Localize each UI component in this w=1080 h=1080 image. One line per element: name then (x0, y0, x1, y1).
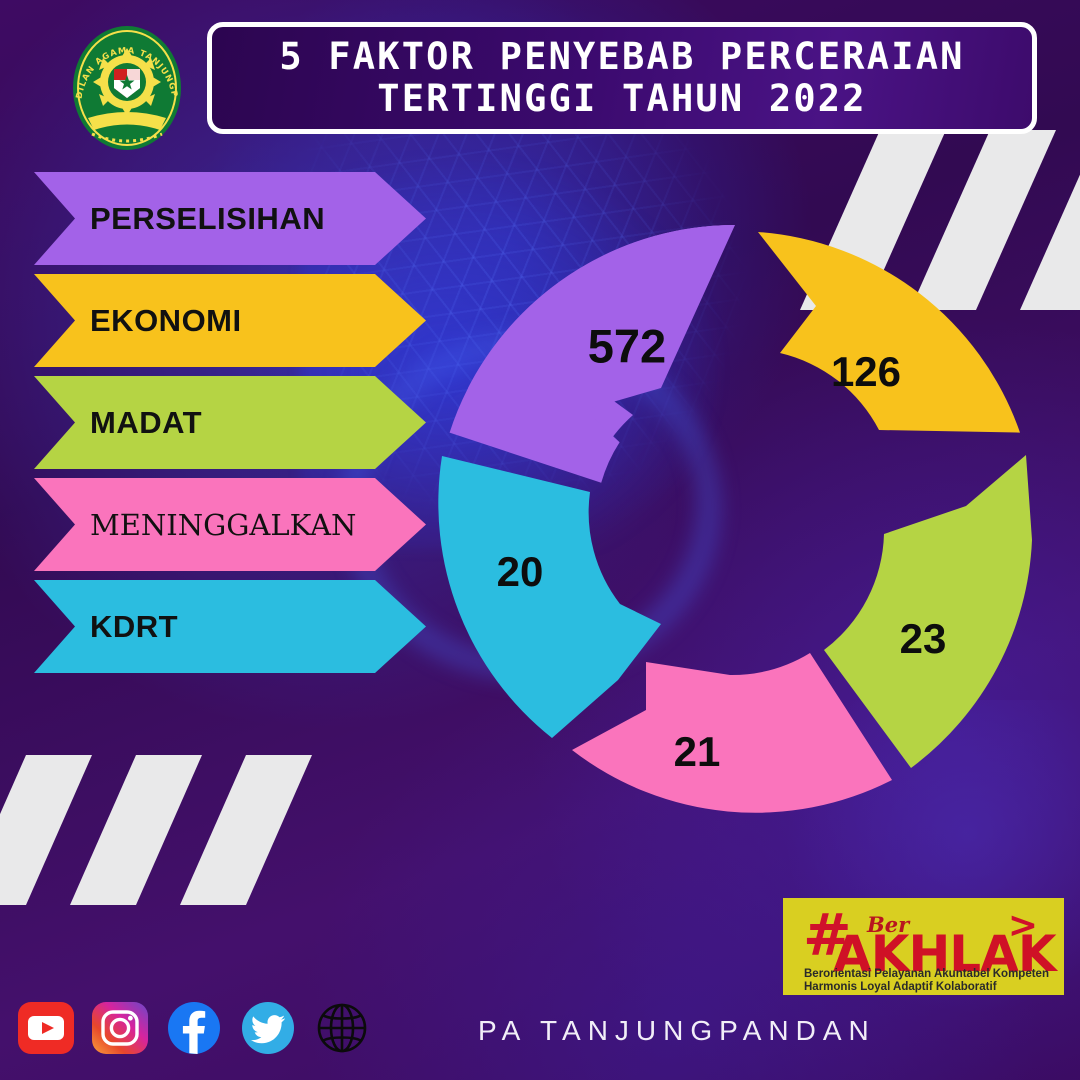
berakhlak-logo: # Ber AKHLAK > Berorientasi Pelayanan Ak… (783, 898, 1064, 995)
title-line-1: 5 FAKTOR PENYEBAB PERCERAIAN (279, 36, 964, 78)
legend-list: PERSELISIHAN EKONOMI MADAT MENINGGALKAN … (34, 172, 426, 682)
legend-label: PERSELISIHAN (34, 201, 325, 237)
diagonal-stripes-bottom-left (0, 755, 360, 905)
title-line-2: TERTINGGI TAHUN 2022 (377, 78, 867, 120)
court-seal-logo: PENGADILAN AGAMA TANJUNGPANDAN (62, 22, 192, 154)
twitter-icon[interactable] (240, 1000, 296, 1056)
legend-label: KDRT (34, 609, 178, 645)
legend-label: MADAT (34, 405, 202, 441)
page-title: 5 FAKTOR PENYEBAB PERCERAIAN TERTINGGI T… (207, 22, 1037, 134)
facebook-icon[interactable] (166, 1000, 222, 1056)
legend-item-kdrt[interactable]: KDRT (34, 580, 426, 673)
legend-item-meninggalkan[interactable]: MENINGGALKAN (34, 478, 426, 571)
instagram-icon[interactable] (92, 1000, 148, 1056)
legend-label: EKONOMI (34, 303, 242, 339)
legend-item-ekonomi[interactable]: EKONOMI (34, 274, 426, 367)
account-name: PA TANJUNGPANDAN (478, 1015, 876, 1047)
legend-label: MENINGGALKAN (34, 508, 356, 542)
infographic-poster: PENGADILAN AGAMA TANJUNGPANDAN (0, 0, 1080, 1080)
donut-chart: 572 126 23 21 20 (420, 210, 1050, 840)
website-icon[interactable] (314, 1000, 370, 1056)
legend-item-perselisihan[interactable]: PERSELISIHAN (34, 172, 426, 265)
legend-item-madat[interactable]: MADAT (34, 376, 426, 469)
value-label-meninggalkan: 21 (674, 728, 721, 775)
segment-2-ekonomi[interactable] (758, 232, 1020, 433)
youtube-icon[interactable] (18, 1000, 74, 1056)
segment-3-madat[interactable] (824, 455, 1032, 768)
value-label-kdrt: 20 (497, 548, 544, 595)
segment-5-kdrt[interactable] (438, 456, 661, 738)
value-label-madat: 23 (900, 615, 947, 662)
value-label-perselisihan: 572 (588, 319, 666, 372)
chevron-right-icon: > (1008, 908, 1038, 944)
akhlak-tagline-2: Harmonis Loyal Adaptif Kolaboratif (804, 981, 997, 993)
value-label-ekonomi: 126 (831, 348, 901, 395)
chart-arrow-segments (438, 225, 1032, 813)
akhlak-tagline-1: Berorientasi Pelayanan Akuntabel Kompete… (804, 968, 1049, 980)
social-links (18, 1000, 370, 1056)
